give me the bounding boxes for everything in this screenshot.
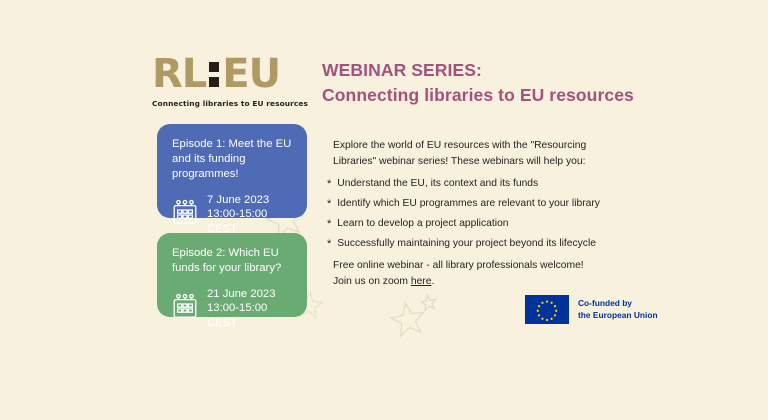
logo-part-rl: RL — [152, 54, 206, 94]
logo-part-eu: EU — [222, 54, 280, 94]
list-item-label: Learn to develop a project application — [337, 219, 508, 229]
zoom-link[interactable]: here — [411, 276, 432, 287]
eu-badge-text: Co-funded by the European Union — [578, 298, 658, 321]
join-suffix: . — [431, 276, 434, 287]
list-item-label: Understand the EU, its context and its f… — [337, 179, 538, 189]
intro-paragraph: Explore the world of EU resources with t… — [333, 138, 615, 170]
headline-line-1: WEBINAR SERIES: — [322, 58, 634, 83]
closing-line-1: Free online webinar - all library profes… — [333, 258, 623, 274]
poster-canvas: RL EU Connecting libraries to EU resourc… — [0, 0, 768, 420]
list-item: * Identify which EU programmes are relev… — [327, 199, 627, 211]
bullet-star-icon: * — [327, 199, 331, 211]
benefits-list: * Understand the EU, its context and its… — [327, 179, 627, 259]
intro-line-2: Libraries" webinar series! These webinar… — [333, 154, 615, 170]
episode-2-schedule: 21 June 2023 13:00-15:00 CEST — [172, 287, 293, 331]
star-outline-watermark — [382, 288, 446, 349]
episode-2-datetime: 21 June 2023 13:00-15:00 CEST — [207, 287, 293, 331]
logo-tagline: Connecting libraries to EU resources — [152, 99, 304, 108]
list-item: * Learn to develop a project application — [327, 219, 627, 231]
episode-card-2[interactable]: Episode 2: Which EU funds for your libra… — [157, 233, 307, 317]
episode-1-date: 7 June 2023 — [207, 193, 293, 208]
episode-card-1[interactable]: Episode 1: Meet the EU and its funding p… — [157, 124, 307, 218]
list-item-label: Identify which EU programmes are relevan… — [337, 199, 600, 209]
calendar-icon — [172, 199, 198, 230]
logo: RL EU Connecting libraries to EU resourc… — [152, 54, 304, 108]
episode-1-title: Episode 1: Meet the EU and its funding p… — [172, 137, 293, 182]
headline-line-2: Connecting libraries to EU resources — [322, 83, 634, 108]
join-prefix: Join us on zoom — [333, 276, 411, 287]
episode-2-time: 13:00-15:00 CEST — [207, 301, 293, 330]
intro-line-1: Explore the world of EU resources with t… — [333, 138, 615, 154]
calendar-icon — [172, 293, 198, 324]
colon-blocks-icon — [209, 62, 219, 87]
list-item: * Understand the EU, its context and its… — [327, 179, 627, 191]
bullet-star-icon: * — [327, 219, 331, 231]
episode-1-schedule: 7 June 2023 13:00-15:00 CEST — [172, 193, 293, 237]
eu-flag-icon — [525, 295, 569, 324]
list-item-label: Successfully maintaining your project be… — [337, 239, 596, 249]
list-item: * Successfully maintaining your project … — [327, 239, 627, 251]
eu-badge-line-2: the European Union — [578, 310, 658, 322]
eu-badge-line-1: Co-funded by — [578, 298, 658, 310]
closing-paragraph: Free online webinar - all library profes… — [333, 258, 623, 290]
page-title: WEBINAR SERIES: Connecting libraries to … — [322, 58, 634, 108]
logo-wordmark: RL EU — [152, 54, 304, 94]
eu-cofunding-badge: Co-funded by the European Union — [525, 295, 658, 324]
bullet-star-icon: * — [327, 239, 331, 251]
closing-line-2: Join us on zoom here. — [333, 274, 623, 290]
episode-2-date: 21 June 2023 — [207, 287, 293, 302]
episode-1-datetime: 7 June 2023 13:00-15:00 CEST — [207, 193, 293, 237]
episode-2-title: Episode 2: Which EU funds for your libra… — [172, 246, 293, 276]
bullet-star-icon: * — [327, 179, 331, 191]
